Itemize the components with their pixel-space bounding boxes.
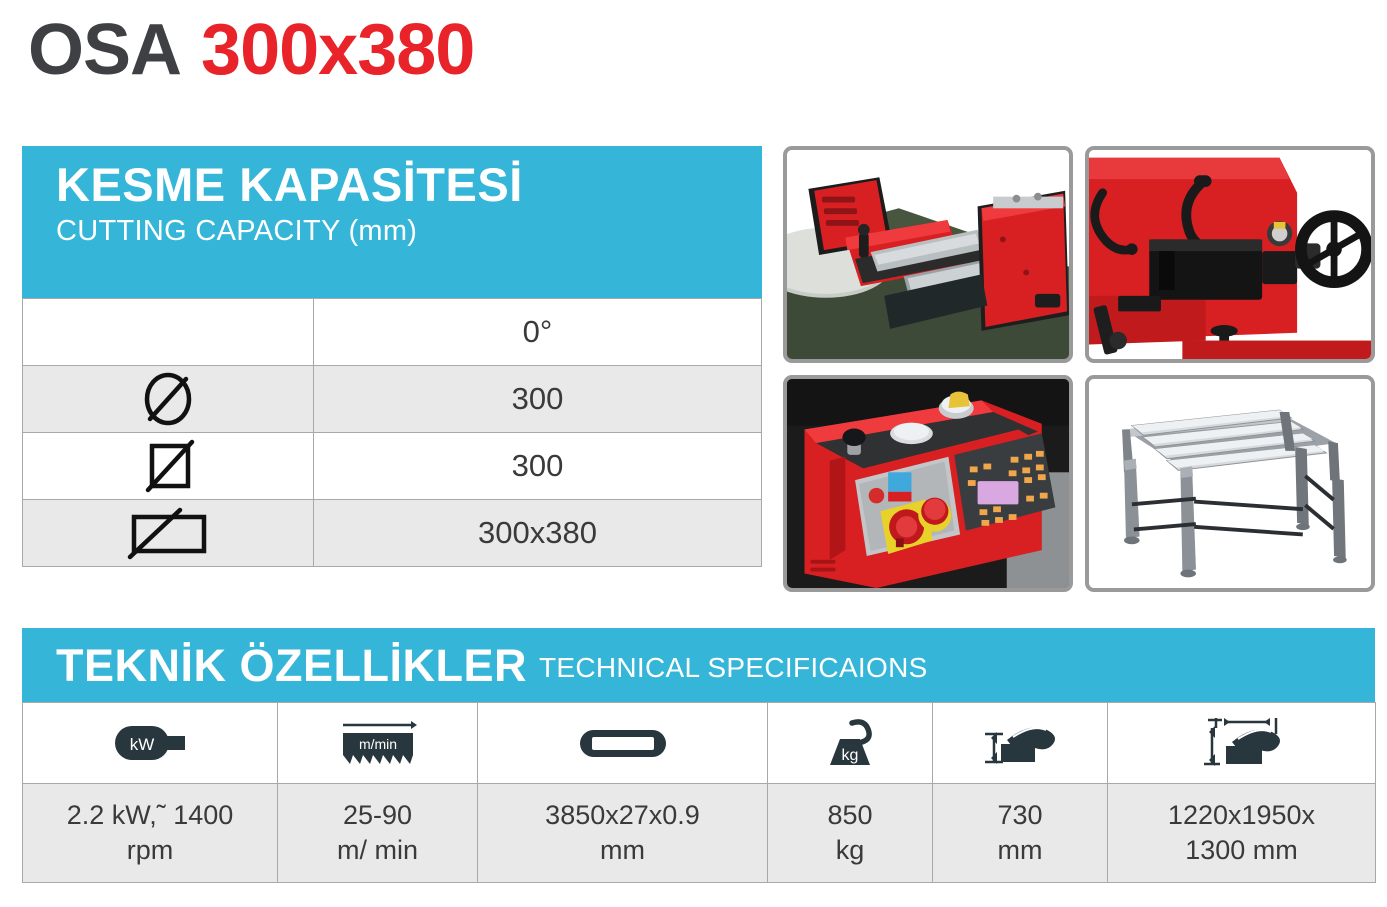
- specs-icon-row: kW m/min: [23, 703, 1376, 784]
- cutting-capacity-header: KESME KAPASİTESİ CUTTING CAPACITY (mm): [22, 146, 762, 298]
- cutting-capacity-title-en: CUTTING CAPACITY (mm): [56, 215, 762, 248]
- blade-speed-value: 25-90m/ min: [278, 784, 478, 883]
- empty-symbol: [23, 299, 314, 366]
- rectangular-capacity-value: 300x380: [314, 500, 762, 567]
- brand-name: OSA: [28, 14, 181, 86]
- rectangular-stock-icon: [23, 500, 314, 567]
- table-row: 0°: [23, 299, 762, 366]
- angle-value: 0°: [314, 299, 762, 366]
- specs-value-row: 2.2 kW,˜ 1400rpm 25-90m/ min 3850x27x0.9…: [23, 784, 1376, 883]
- photo-vise-clamping-assembly: [783, 146, 1073, 363]
- model-number: 300x380: [201, 14, 474, 86]
- page-title: OSA 300x380: [28, 14, 474, 86]
- cutting-capacity-table: 0° 300 300: [22, 298, 762, 567]
- specs-title-tr: TEKNİK ÖZELLİKLER: [56, 643, 527, 688]
- machine-dimensions-value: 1220x1950x1300 mm: [1108, 784, 1376, 883]
- svg-text:m/min: m/min: [358, 736, 396, 752]
- machine-dimensions-icon: [1108, 703, 1376, 784]
- table-row: 300x380: [23, 500, 762, 567]
- blade-dimensions-value: 3850x27x0.9mm: [478, 784, 768, 883]
- motor-kw-icon: kW: [23, 703, 278, 784]
- technical-specifications-header: TEKNİK ÖZELLİKLER TECHNICAL SPECIFICAION…: [22, 628, 1375, 702]
- square-stock-icon: [23, 433, 314, 500]
- weight-kg-icon: kg: [768, 703, 933, 784]
- cutting-capacity-title-tr: KESME KAPASİTESİ: [56, 160, 762, 211]
- photo-control-panel: [783, 375, 1073, 592]
- specs-title-en: TECHNICAL SPECIFICAIONS: [539, 654, 928, 682]
- square-capacity-value: 300: [314, 433, 762, 500]
- blade-speed-icon: m/min: [278, 703, 478, 784]
- photo-roller-conveyor-table: [1085, 375, 1375, 592]
- svg-text:kW: kW: [130, 735, 155, 754]
- svg-text:kg: kg: [842, 747, 859, 764]
- photo-handwheel-blade-tension: [1085, 146, 1375, 363]
- diameter-round-stock-icon: [23, 366, 314, 433]
- weight-value: 850kg: [768, 784, 933, 883]
- round-capacity-value: 300: [314, 366, 762, 433]
- saw-blade-loop-icon: [478, 703, 768, 784]
- cutting-capacity-panel: KESME KAPASİTESİ CUTTING CAPACITY (mm) 0…: [22, 146, 762, 567]
- table-row: 300: [23, 366, 762, 433]
- machine-height-value: 730mm: [933, 784, 1108, 883]
- technical-specifications-panel: TEKNİK ÖZELLİKLER TECHNICAL SPECIFICAION…: [22, 628, 1375, 883]
- machine-height-icon: [933, 703, 1108, 784]
- product-photo-grid: [783, 146, 1375, 592]
- motor-power-value: 2.2 kW,˜ 1400rpm: [23, 784, 278, 883]
- technical-specifications-table: kW m/min: [22, 702, 1376, 883]
- table-row: 300: [23, 433, 762, 500]
